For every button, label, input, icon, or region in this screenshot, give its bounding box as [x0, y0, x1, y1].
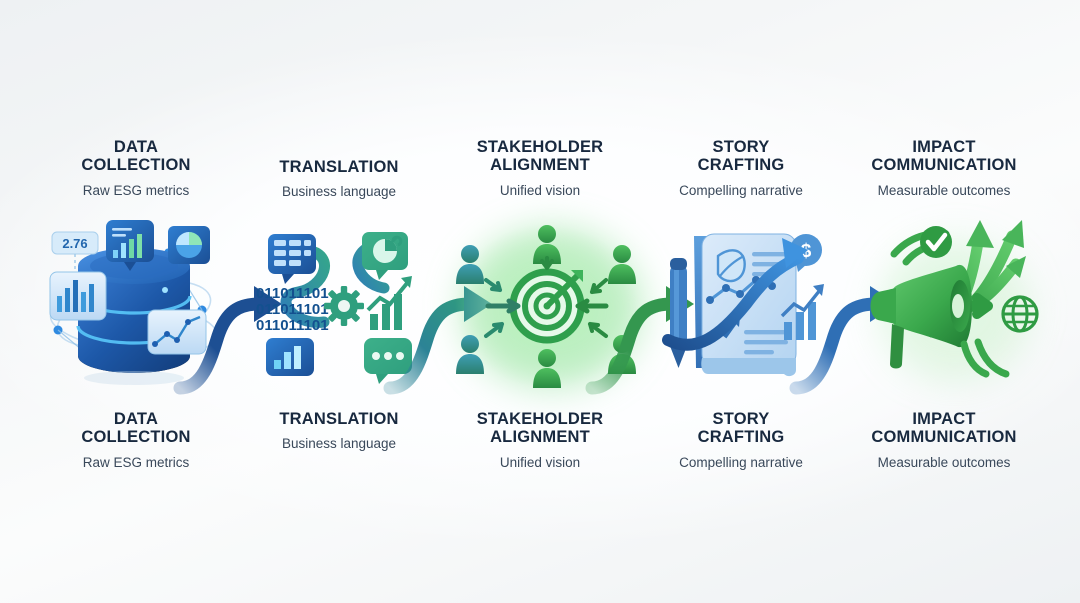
bar-chart-tile	[266, 338, 314, 376]
metric-badge-value: 2.76	[62, 236, 87, 251]
target-icon	[513, 270, 583, 340]
stage-label-bottom-translation: TRANSLATION Business language	[239, 410, 439, 452]
binary-line: 011011101	[256, 301, 329, 318]
stage-title: IMPACT COMMUNICATION	[842, 138, 1046, 175]
stage-subtitle: Business language	[239, 184, 439, 200]
binary-code: 011011101 011011101 011011101	[256, 285, 329, 334]
stage-label-bottom-data-collection: DATA COLLECTION Raw ESG metrics	[36, 410, 236, 470]
sound-waves-bottom	[964, 342, 1006, 374]
infographic-canvas: DATA COLLECTION Raw ESG metrics TRANSLAT…	[0, 0, 1080, 603]
stage-subtitle: Measurable outcomes	[842, 183, 1046, 199]
stage-title: DATA COLLECTION	[36, 138, 236, 175]
icon-megaphone-growth-icon	[860, 218, 1050, 398]
stage-title: TRANSLATION	[239, 158, 439, 176]
stage-title: IMPACT COMMUNICATION	[842, 410, 1046, 447]
stage-title: STAKEHOLDER ALIGNMENT	[440, 410, 640, 447]
stage-label-top-impact-communication: IMPACT COMMUNICATION Measurable outcomes	[842, 138, 1046, 198]
stage-title: STAKEHOLDER ALIGNMENT	[440, 138, 640, 175]
stage-subtitle: Compelling narrative	[641, 455, 841, 471]
stage-label-bottom-story-crafting: STORY CRAFTING Compelling narrative	[641, 410, 841, 470]
stage-title: STORY CRAFTING	[641, 410, 841, 447]
pen-icon	[670, 258, 687, 368]
stage-subtitle: Business language	[239, 436, 439, 452]
bar-card-left	[50, 272, 106, 320]
stage-label-bottom-impact-communication: IMPACT COMMUNICATION Measurable outcomes	[842, 410, 1046, 470]
stage-subtitle: Unified vision	[440, 455, 640, 471]
stage-subtitle: Raw ESG metrics	[36, 455, 236, 471]
stage-label-top-translation: TRANSLATION Business language	[239, 158, 439, 200]
data-table-bubble	[268, 234, 316, 284]
stage-subtitle: Measurable outcomes	[842, 455, 1046, 471]
globe-icon	[1003, 297, 1037, 331]
stage-label-top-story-crafting: STORY CRAFTING Compelling narrative	[641, 138, 841, 198]
stage-subtitle: Raw ESG metrics	[36, 183, 236, 199]
pie-chart-card	[168, 226, 210, 264]
stage-label-top-data-collection: DATA COLLECTION Raw ESG metrics	[36, 138, 236, 198]
stage-title: TRANSLATION	[239, 410, 439, 428]
binary-line: 011011101	[256, 317, 329, 334]
stage-label-top-stakeholder-alignment: STAKEHOLDER ALIGNMENT Unified vision	[440, 138, 640, 198]
stage-subtitle: Unified vision	[440, 183, 640, 199]
stage-subtitle: Compelling narrative	[641, 183, 841, 199]
stage-label-bottom-stakeholder-alignment: STAKEHOLDER ALIGNMENT Unified vision	[440, 410, 640, 470]
check-badge-icon	[920, 226, 952, 258]
stage-title: DATA COLLECTION	[36, 410, 236, 447]
binary-line: 011011101	[256, 285, 329, 302]
leaf-icon	[718, 250, 745, 281]
gear-icon	[324, 286, 364, 326]
stage-title: STORY CRAFTING	[641, 138, 841, 175]
megaphone-icon	[871, 265, 973, 369]
